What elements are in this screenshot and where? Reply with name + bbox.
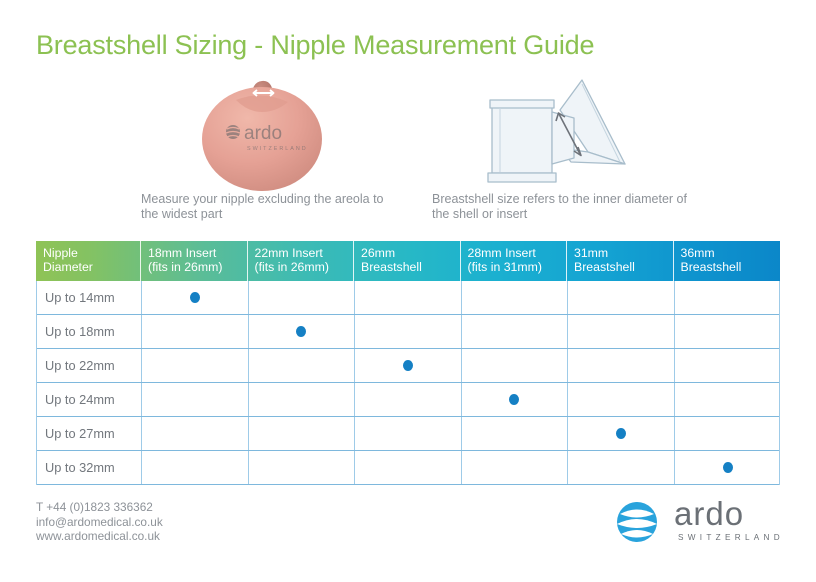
- column-header-line1: 36mm: [681, 247, 781, 261]
- cell-empty: [462, 281, 569, 314]
- fit-dot-icon: [616, 428, 626, 439]
- table-body: Up to 14mmUp to 18mmUp to 22mmUp to 24mm…: [36, 281, 780, 485]
- ardo-logo-subtitle: SWITZERLAND: [678, 533, 784, 542]
- cell-empty: [675, 349, 782, 382]
- page-title: Breastshell Sizing - Nipple Measurement …: [36, 30, 594, 61]
- fit-dot-icon: [190, 292, 200, 303]
- cell-empty: [675, 383, 782, 416]
- fit-dot-icon: [509, 394, 519, 405]
- cell-empty: [568, 349, 675, 382]
- table-row: Up to 32mm: [37, 451, 779, 485]
- fit-dot-icon: [723, 462, 733, 473]
- column-header-line1: Nipple: [43, 247, 140, 261]
- cell-marked: [142, 281, 249, 314]
- shell-rim: [490, 100, 554, 108]
- cell-empty: [462, 315, 569, 348]
- cell-empty: [142, 349, 249, 382]
- cell-empty: [568, 383, 675, 416]
- cell-empty: [462, 451, 569, 484]
- cell-marked: [355, 349, 462, 382]
- cell-marked: [249, 315, 356, 348]
- breast-model-svg: ardo SWITZERLAND: [196, 74, 336, 192]
- cell-empty: [462, 417, 569, 450]
- column-header-line2: Diameter: [43, 261, 140, 275]
- column-header-18mm-insert: 18mm Insert (fits in 26mm): [141, 241, 248, 281]
- shell-base: [488, 173, 556, 182]
- cell-empty: [568, 451, 675, 484]
- sizing-table: Nipple Diameter 18mm Insert (fits in 26m…: [36, 241, 780, 485]
- column-header-line2: Breastshell: [361, 261, 460, 275]
- cell-empty: [142, 417, 249, 450]
- column-header-28mm-insert: 28mm Insert (fits in 31mm): [461, 241, 568, 281]
- fit-dot-icon: [296, 326, 306, 337]
- ardo-logo-wordmark: ardo: [674, 495, 744, 533]
- cell-empty: [462, 349, 569, 382]
- cell-empty: [675, 315, 782, 348]
- column-header-line2: (fits in 26mm): [255, 261, 354, 275]
- table-row: Up to 27mm: [37, 417, 779, 451]
- breast-caption: Measure your nipple excluding the areola…: [141, 192, 391, 222]
- row-label-nipple-diameter: Up to 14mm: [37, 281, 142, 314]
- table-row: Up to 14mm: [37, 281, 779, 315]
- cell-empty: [142, 383, 249, 416]
- cell-empty: [675, 417, 782, 450]
- column-header-22mm-insert: 22mm Insert (fits in 26mm): [248, 241, 355, 281]
- column-header-36mm-breastshell: 36mm Breastshell: [674, 241, 781, 281]
- svg-text:ardo: ardo: [244, 123, 282, 144]
- table-row: Up to 22mm: [37, 349, 779, 383]
- row-label-nipple-diameter: Up to 18mm: [37, 315, 142, 348]
- cell-empty: [249, 451, 356, 484]
- row-label-nipple-diameter: Up to 24mm: [37, 383, 142, 416]
- table-row: Up to 24mm: [37, 383, 779, 417]
- column-header-line1: 31mm: [574, 247, 673, 261]
- breastshell-illustration: [478, 78, 648, 193]
- ardo-logo: ardo SWITZERLAND: [612, 497, 780, 547]
- svg-text:SWITZERLAND: SWITZERLAND: [247, 146, 308, 152]
- row-label-nipple-diameter: Up to 27mm: [37, 417, 142, 450]
- column-header-26mm-breastshell: 26mm Breastshell: [354, 241, 461, 281]
- cell-empty: [249, 349, 356, 382]
- cell-empty: [355, 315, 462, 348]
- table-header-row: Nipple Diameter 18mm Insert (fits in 26m…: [36, 241, 780, 281]
- cell-marked: [462, 383, 569, 416]
- contact-phone: T +44 (0)1823 336362: [36, 500, 163, 515]
- column-header-line2: (fits in 26mm): [148, 261, 247, 275]
- ardo-sphere-icon: [612, 497, 662, 547]
- contact-email[interactable]: info@ardomedical.co.uk: [36, 515, 163, 530]
- cell-empty: [355, 417, 462, 450]
- cell-empty: [249, 417, 356, 450]
- table-row: Up to 18mm: [37, 315, 779, 349]
- cell-empty: [675, 281, 782, 314]
- column-header-line2: (fits in 31mm): [468, 261, 567, 275]
- breastshell-svg: [478, 78, 648, 193]
- cell-empty: [355, 383, 462, 416]
- breastshell-caption: Breastshell size refers to the inner dia…: [432, 192, 692, 222]
- page-root: Breastshell Sizing - Nipple Measurement …: [0, 0, 816, 582]
- column-header-31mm-breastshell: 31mm Breastshell: [567, 241, 674, 281]
- cell-empty: [142, 315, 249, 348]
- column-header-line1: 18mm Insert: [148, 247, 247, 261]
- column-header-nipple-diameter: Nipple Diameter: [36, 241, 141, 281]
- column-header-line1: 26mm: [361, 247, 460, 261]
- cell-marked: [675, 451, 782, 484]
- contact-website[interactable]: www.ardomedical.co.uk: [36, 529, 163, 544]
- cell-marked: [568, 417, 675, 450]
- shell-body: [492, 104, 552, 173]
- cell-empty: [142, 451, 249, 484]
- breast-model-illustration: ardo SWITZERLAND: [196, 74, 336, 192]
- cell-empty: [568, 281, 675, 314]
- column-header-line2: Breastshell: [681, 261, 781, 275]
- cell-empty: [249, 383, 356, 416]
- contact-block: T +44 (0)1823 336362 info@ardomedical.co…: [36, 500, 163, 544]
- column-header-line1: 28mm Insert: [468, 247, 567, 261]
- cell-empty: [568, 315, 675, 348]
- row-label-nipple-diameter: Up to 22mm: [37, 349, 142, 382]
- column-header-line1: 22mm Insert: [255, 247, 354, 261]
- cell-empty: [249, 281, 356, 314]
- fit-dot-icon: [403, 360, 413, 371]
- cell-empty: [355, 281, 462, 314]
- row-label-nipple-diameter: Up to 32mm: [37, 451, 142, 484]
- cell-empty: [355, 451, 462, 484]
- column-header-line2: Breastshell: [574, 261, 673, 275]
